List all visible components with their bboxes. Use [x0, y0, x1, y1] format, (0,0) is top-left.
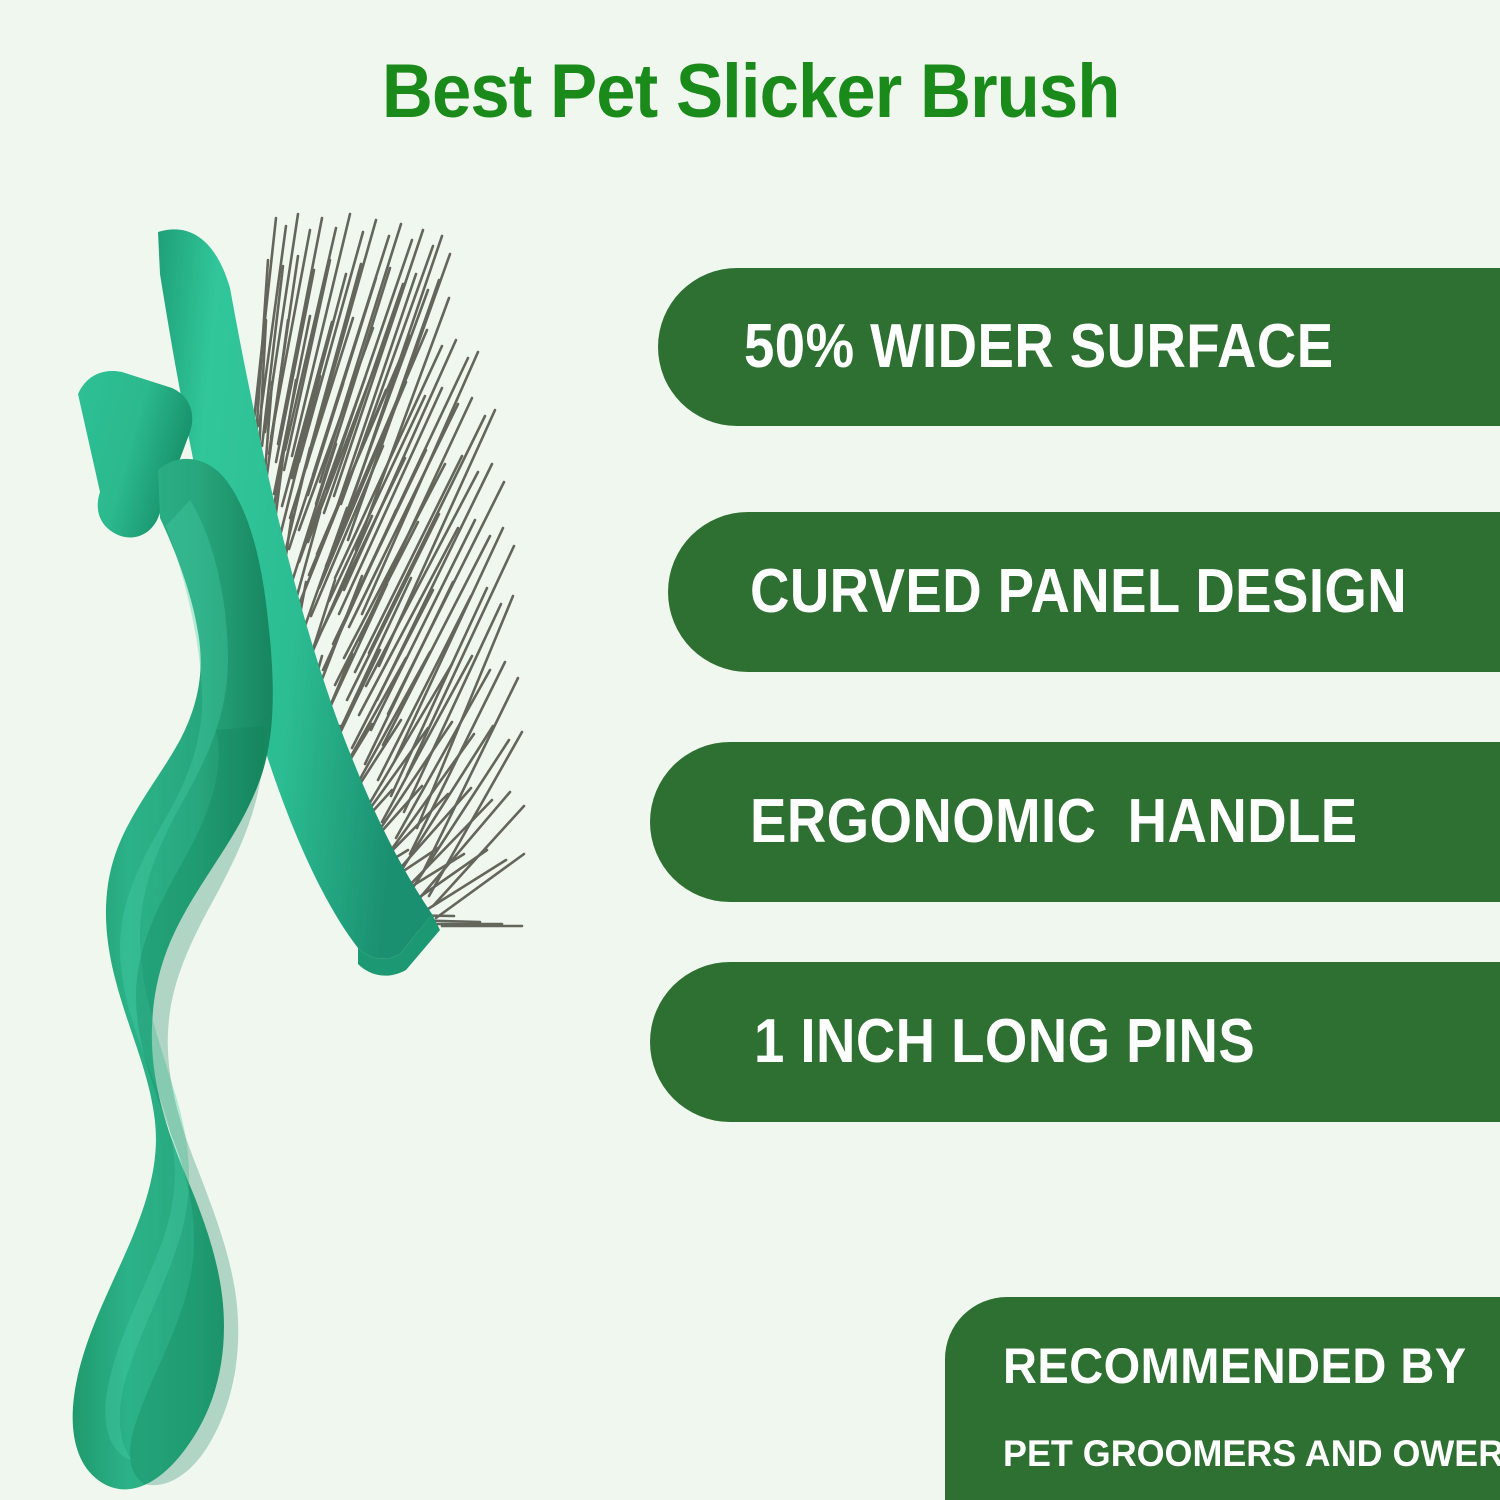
feature-badge-label: ERGONOMIC HANDLE [750, 791, 1358, 853]
feature-badge-ergonomic-handle[interactable]: ERGONOMIC HANDLE [650, 742, 1500, 902]
feature-badge-label: 1 INCH LONG PINS [754, 1011, 1255, 1073]
recommendation-subline: PET GROOMERS AND OWERS [1003, 1435, 1500, 1472]
feature-badge-label: CURVED PANEL DESIGN [750, 561, 1407, 623]
feature-badge-curved-panel[interactable]: CURVED PANEL DESIGN [668, 512, 1500, 672]
feature-badge-long-pins[interactable]: 1 INCH LONG PINS [650, 962, 1500, 1122]
infographic-canvas: Best Pet Slicker Brush [0, 0, 1500, 1500]
feature-badge-label: 50% WIDER SURFACE [744, 316, 1334, 378]
page-title: Best Pet Slicker Brush [53, 52, 1448, 132]
feature-badge-wider-surface[interactable]: 50% WIDER SURFACE [658, 268, 1500, 426]
recommendation-badge[interactable]: RECOMMENDED BY PET GROOMERS AND OWERS [945, 1297, 1500, 1500]
product-image [40, 170, 560, 1500]
recommendation-headline: RECOMMENDED BY [1003, 1341, 1489, 1391]
